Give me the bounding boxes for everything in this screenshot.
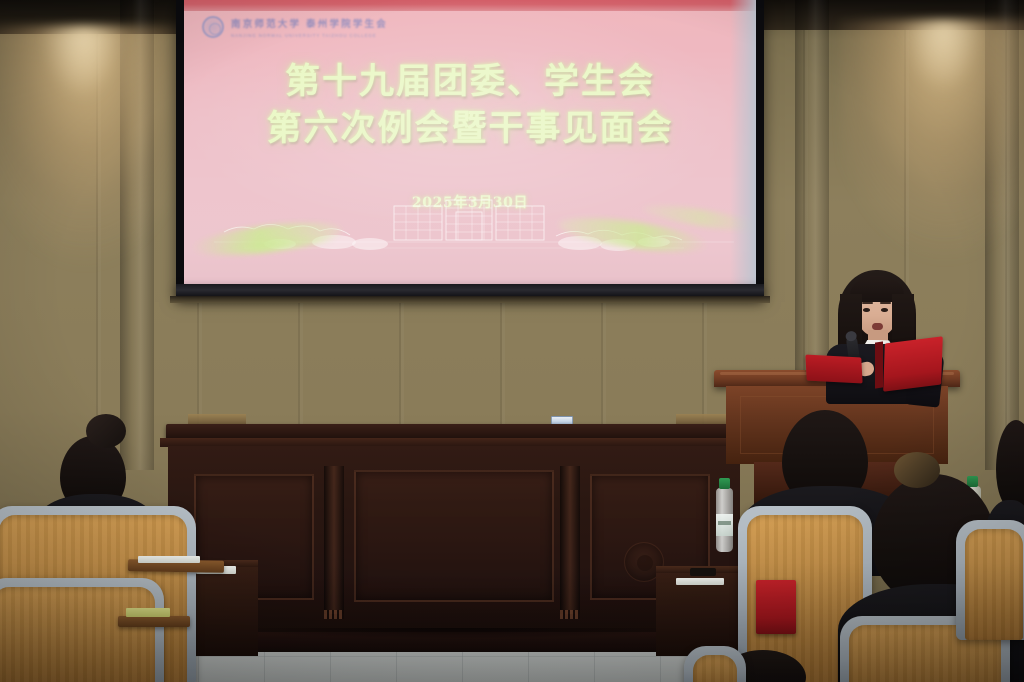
seat-far-right[interactable] — [956, 520, 1024, 640]
red-folder-right — [883, 336, 943, 391]
red-folder-spine — [875, 341, 883, 388]
speaker-brow-right — [880, 302, 891, 304]
audience-member-right-hair-bun — [894, 452, 940, 488]
desk-panel-center — [354, 470, 554, 602]
side-table-left — [186, 560, 258, 656]
desk-pilaster-left — [324, 466, 344, 614]
screen-bottom-shelf — [170, 296, 770, 303]
bottle-label-left — [716, 514, 733, 536]
auditorium-photo: 南京师范大学 泰州学院学生会 NANJING NORMAL UNIVERSITY… — [0, 0, 1024, 682]
seat-foreground[interactable] — [684, 646, 746, 682]
bottle-cap-left — [719, 478, 730, 489]
red-folder-left — [805, 354, 862, 383]
speaker-eye-right — [881, 308, 888, 312]
tablet-arm-left-front — [118, 616, 190, 627]
slide-header: 南京师范大学 泰州学院学生会 NANJING NORMAL UNIVERSITY… — [202, 16, 388, 38]
speaker-brow-left — [862, 302, 873, 304]
wall-wash-core-right — [895, 24, 991, 174]
desk-pilaster-right — [560, 466, 580, 614]
dark-object-on-table — [690, 568, 716, 576]
audience-member-left-hair-bun — [86, 414, 126, 448]
projection-screen: 南京师范大学 泰州学院学生会 NANJING NORMAL UNIVERSITY… — [176, 0, 764, 314]
seat-left-front[interactable] — [0, 578, 164, 682]
screen-surface: 南京师范大学 泰州学院学生会 NANJING NORMAL UNIVERSITY… — [184, 0, 756, 284]
slide-title-line-2: 第六次例会暨干事见面会 — [184, 105, 756, 152]
seat-wood-back — [0, 587, 155, 682]
paper-sheet-right — [676, 578, 724, 585]
speaker-mouth — [872, 323, 883, 330]
student-presenter — [820, 266, 950, 396]
paper-on-tablet-arm-left — [138, 556, 200, 563]
red-folder-on-seat — [756, 580, 796, 634]
slide-org-name-en: NANJING NORMAL UNIVERSITY TAIZHOU COLLEG… — [231, 33, 388, 38]
screen-right-edge — [730, 0, 756, 284]
slide-org-block: 南京师范大学 泰州学院学生会 NANJING NORMAL UNIVERSITY… — [231, 16, 388, 38]
speaker-eye-left — [863, 308, 870, 312]
slide-title: 第十九届团委、学生会 第六次例会暨干事见面会 — [184, 58, 756, 152]
desk-pilaster-cap-right — [560, 610, 580, 619]
desk-pilaster-cap-left — [324, 610, 344, 619]
university-seal-icon — [202, 16, 224, 38]
seat-wood-back — [965, 529, 1023, 640]
wall-wash-core-left — [34, 30, 130, 180]
slide-org-name-cn: 南京师范大学 泰州学院学生会 — [231, 16, 388, 30]
notebook-left — [126, 608, 170, 617]
seat-wood-back — [693, 655, 737, 682]
water-bottle-left — [716, 488, 733, 552]
slide-title-line-1: 第十九届团委、学生会 — [184, 58, 756, 105]
slide-topbar — [184, 0, 756, 11]
campus-skyline-graphic — [184, 192, 756, 266]
